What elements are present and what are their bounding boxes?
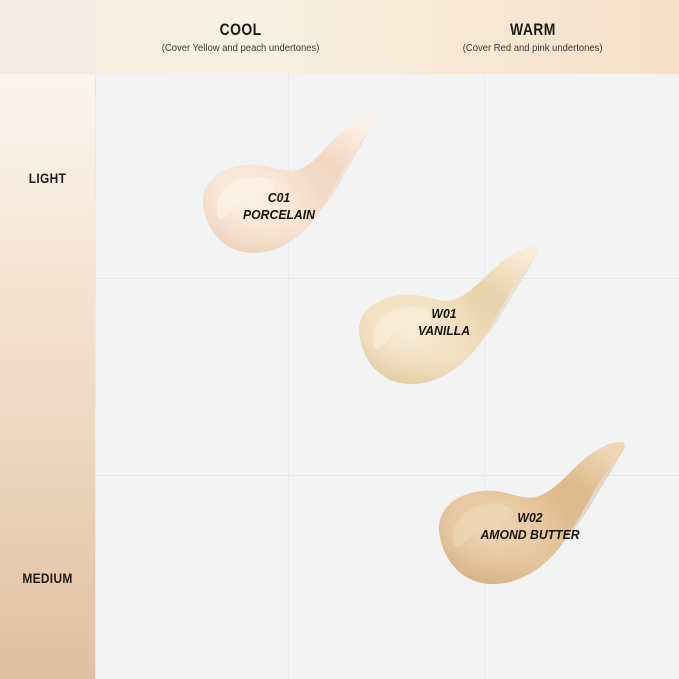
depth-gradient-rail	[0, 74, 95, 679]
swatch-w02-amond-butter[interactable]: W02 AMOND BUTTER	[432, 438, 627, 588]
header-corner-blank	[0, 0, 95, 74]
shade-matrix-chart: COOL (Cover Yellow and peach undertones)…	[0, 0, 679, 679]
swatch-sheen-c01	[203, 117, 374, 253]
swatch-shape-w01	[352, 243, 540, 388]
header-title-warm: WARM	[510, 20, 556, 40]
header-column-cool: COOL (Cover Yellow and peach undertones)	[95, 0, 387, 74]
swatch-shape-c01	[196, 113, 376, 258]
depth-label-medium: MEDIUM	[7, 570, 88, 586]
swatch-shape-w02	[432, 438, 627, 588]
header-column-warm: WARM (Cover Red and pink undertones)	[387, 0, 679, 74]
header-title-cool: COOL	[220, 20, 262, 40]
swatch-c01-porcelain[interactable]: C01 PORCELAIN	[196, 113, 376, 258]
header-subtitle-warm: (Cover Red and pink undertones)	[463, 42, 603, 54]
depth-label-light: LIGHT	[7, 170, 88, 186]
header-subtitle-cool: (Cover Yellow and peach undertones)	[162, 42, 320, 54]
swatch-w01-vanilla[interactable]: W01 VANILLA	[352, 243, 540, 388]
gridline-v-0	[95, 74, 96, 679]
